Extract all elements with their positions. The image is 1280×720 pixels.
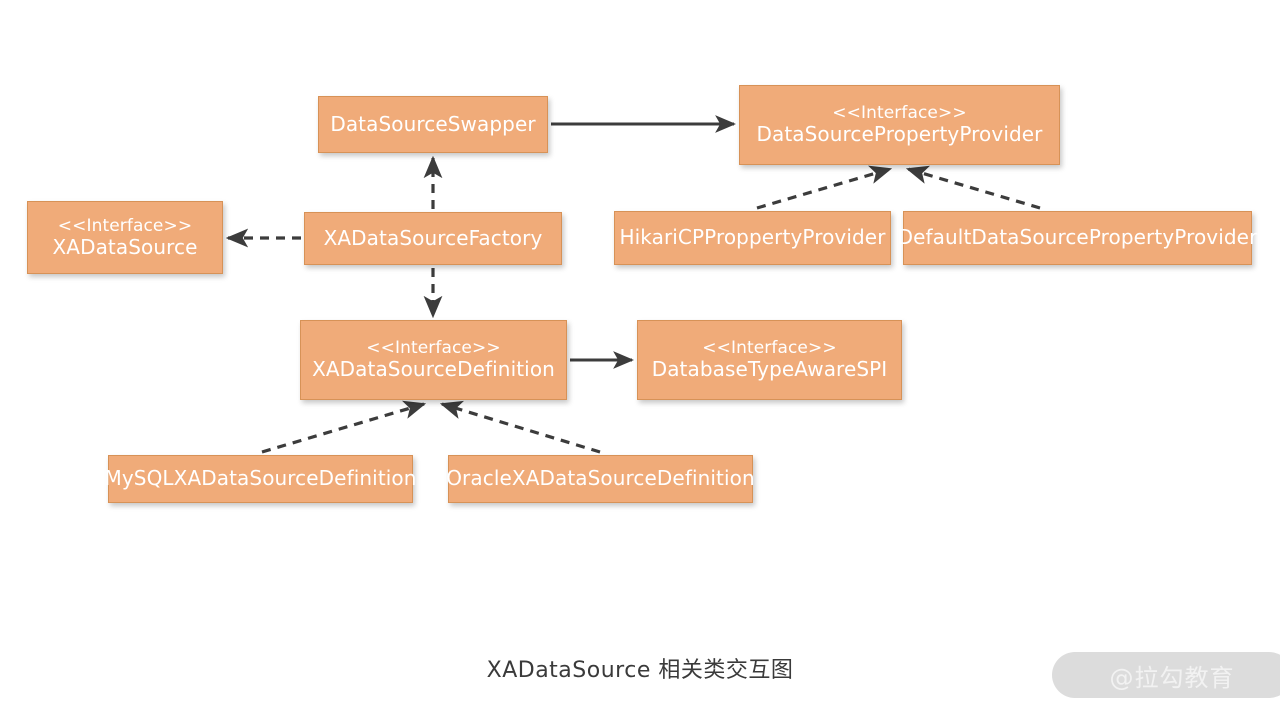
diagram-canvas: DataSourceSwapper <<Interface>> DataSour… <box>0 0 1280 720</box>
node-database-type-aware-spi[interactable]: <<Interface>> DatabaseTypeAwareSPI <box>637 320 902 400</box>
node-label: DatabaseTypeAwareSPI <box>652 358 888 382</box>
node-label: DataSourcePropertyProvider <box>756 123 1042 147</box>
watermark-badge: @拉勾教育 <box>1052 652 1280 698</box>
node-stereotype: <<Interface>> <box>58 216 192 236</box>
node-stereotype: <<Interface>> <box>832 103 966 123</box>
node-label: MySQLXADataSourceDefinition <box>104 467 416 491</box>
node-default-datasource-property-provider[interactable]: DefaultDataSourcePropertyProvider <box>903 211 1252 265</box>
node-label: XADataSourceDefinition <box>312 358 555 382</box>
node-oracle-xadatasource-definition[interactable]: OracleXADataSourceDefinition <box>448 455 753 503</box>
node-hikaricp-property-provider[interactable]: HikariCPProppertyProvider <box>614 211 891 265</box>
edge-hikaricp-to-provider <box>757 169 890 208</box>
node-stereotype: <<Interface>> <box>366 338 500 358</box>
node-datasource-swapper[interactable]: DataSourceSwapper <box>318 96 548 153</box>
node-label: XADataSource <box>52 236 197 260</box>
node-xadatasource-definition[interactable]: <<Interface>> XADataSourceDefinition <box>300 320 567 400</box>
node-datasource-property-provider[interactable]: <<Interface>> DataSourcePropertyProvider <box>739 85 1060 165</box>
edge-oracle-to-definition <box>442 404 600 452</box>
node-label: DefaultDataSourcePropertyProvider <box>898 226 1258 250</box>
node-label: XADataSourceFactory <box>324 227 543 251</box>
node-xadatasource[interactable]: <<Interface>> XADataSource <box>27 201 223 274</box>
node-mysql-xadatasource-definition[interactable]: MySQLXADataSourceDefinition <box>108 455 413 503</box>
node-xadatasource-factory[interactable]: XADataSourceFactory <box>304 212 562 265</box>
node-stereotype: <<Interface>> <box>702 338 836 358</box>
node-label: OracleXADataSourceDefinition <box>446 467 755 491</box>
node-label: HikariCPProppertyProvider <box>619 226 885 250</box>
node-label: DataSourceSwapper <box>330 113 535 137</box>
edge-mysql-to-definition <box>262 404 424 452</box>
edge-default-to-provider <box>908 169 1040 208</box>
